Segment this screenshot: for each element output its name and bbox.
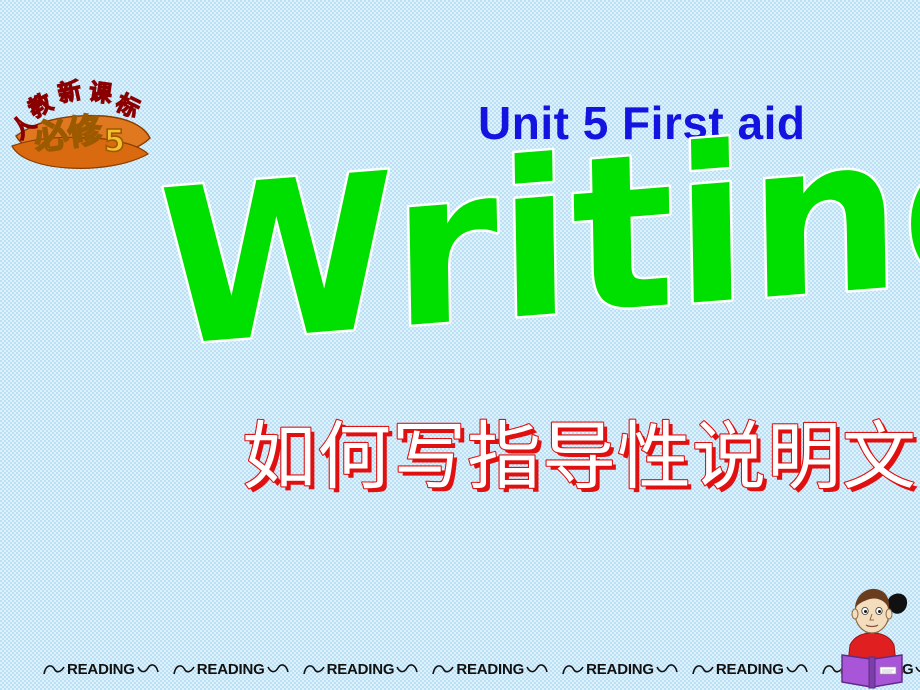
boy-reading-book-icon (828, 583, 920, 690)
squiggle-right-icon (785, 662, 809, 678)
reading-banner-item: READING (691, 661, 809, 678)
squiggle-right-icon (655, 662, 679, 678)
reading-banner-item: READING (431, 661, 549, 678)
svg-text:新: 新 (56, 77, 84, 108)
wordart-writing-text: Writing (157, 74, 920, 395)
reading-label: READING (326, 661, 396, 678)
squiggle-left-icon (691, 662, 715, 678)
squiggle-left-icon (172, 662, 196, 678)
reading-label: READING (196, 661, 266, 678)
wordart-writing: Writing (150, 140, 870, 410)
squiggle-left-icon (561, 662, 585, 678)
reading-banner-item: READING (172, 661, 290, 678)
reading-label: READING (66, 661, 136, 678)
chinese-subtitle-text: 如何写指导性说明文 (242, 414, 917, 500)
pep-new-curriculum-logo: 人 教 新 课 标 必修 5 (8, 58, 156, 186)
reading-banner: READING READING READING READING READING … (0, 661, 820, 678)
squiggle-right-icon (136, 662, 160, 678)
squiggle-left-icon (431, 662, 455, 678)
open-book-icon (842, 655, 902, 688)
squiggle-right-icon (266, 662, 290, 678)
squiggle-right-icon (525, 662, 549, 678)
svg-text:课: 课 (87, 79, 114, 108)
wordart-chinese-subtitle: 如何写指导性说明文 如何写指导性说明文 (230, 404, 790, 519)
reading-label: READING (585, 661, 655, 678)
reading-banner-item: READING (561, 661, 679, 678)
squiggle-left-icon (302, 662, 326, 678)
reading-label: READING (715, 661, 785, 678)
svg-text:5: 5 (104, 124, 125, 159)
reading-banner-item: READING (42, 661, 160, 678)
reading-banner-item: READING (302, 661, 420, 678)
slide-canvas: 人 教 新 课 标 必修 5 Unit 5 First aid Writing … (0, 0, 920, 690)
reading-label: READING (455, 661, 525, 678)
squiggle-right-icon (395, 662, 419, 678)
squiggle-left-icon (42, 662, 66, 678)
